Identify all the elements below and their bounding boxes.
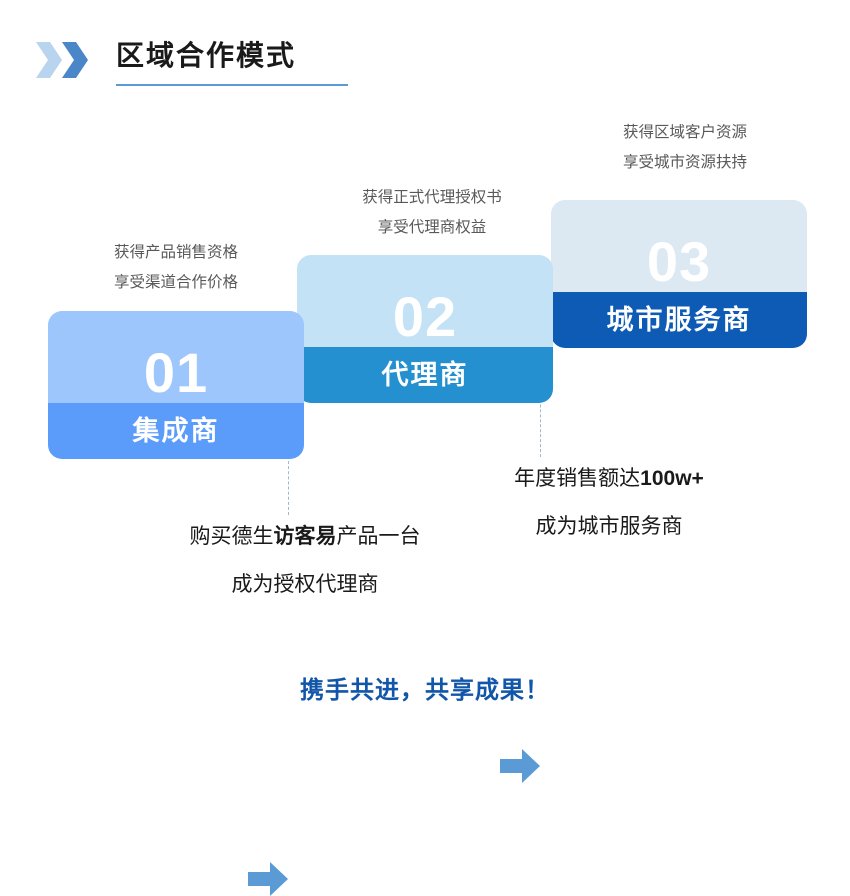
step-label: 代理商: [382, 362, 469, 389]
step-label: 城市服务商: [607, 307, 752, 334]
requirement-line-2: 成为授权代理商: [105, 561, 505, 609]
step-card-02[interactable]: 02 代理商: [297, 255, 553, 403]
benefit-text: 享受城市资源扶持: [535, 148, 835, 178]
step-bar-02: 代理商: [297, 347, 553, 403]
step-bar-03: 城市服务商: [551, 292, 807, 348]
requirement-02-to-03: 年度销售额达100w+ 成为城市服务商: [409, 455, 809, 551]
step-label: 集成商: [133, 418, 220, 445]
step-top-03: 03: [551, 200, 807, 292]
arrow-right-icon: [500, 749, 540, 783]
benefits-step-3: 获得区域客户资源 享受城市资源扶持: [535, 118, 835, 178]
step-number: 01: [48, 345, 304, 401]
requirement-prefix: 年度销售额达: [514, 467, 640, 490]
step-number: 02: [297, 289, 553, 345]
step-top-01: 01: [48, 311, 304, 403]
footer-slogan: 携手共进，共享成果！: [0, 670, 850, 705]
benefit-text: 享受渠道合作价格: [26, 268, 326, 298]
benefits-step-2: 获得正式代理授权书 享受代理商权益: [282, 183, 582, 243]
requirement-highlight: 100w+: [640, 467, 704, 490]
step-card-01[interactable]: 01 集成商: [48, 311, 304, 459]
requirement-line-2: 成为城市服务商: [409, 503, 809, 551]
arrow-right-icon: [248, 862, 288, 896]
step-card-03[interactable]: 03 城市服务商: [551, 200, 807, 348]
benefit-text: 获得正式代理授权书: [282, 183, 582, 213]
requirement-line-1: 年度销售额达100w+: [409, 455, 809, 503]
requirement-prefix: 购买德生: [190, 525, 274, 548]
benefit-text: 获得产品销售资格: [26, 238, 326, 268]
requirement-highlight: 访客易: [274, 525, 337, 548]
step-bar-01: 集成商: [48, 403, 304, 459]
benefit-text: 享受代理商权益: [282, 213, 582, 243]
partnership-diagram: 获得产品销售资格 享受渠道合作价格 获得正式代理授权书 享受代理商权益 获得区域…: [0, 0, 850, 737]
benefit-text: 获得区域客户资源: [535, 118, 835, 148]
step-number: 03: [551, 234, 807, 290]
step-top-02: 02: [297, 255, 553, 347]
requirement-suffix: 产品一台: [337, 525, 421, 548]
benefits-step-1: 获得产品销售资格 享受渠道合作价格: [26, 238, 326, 298]
